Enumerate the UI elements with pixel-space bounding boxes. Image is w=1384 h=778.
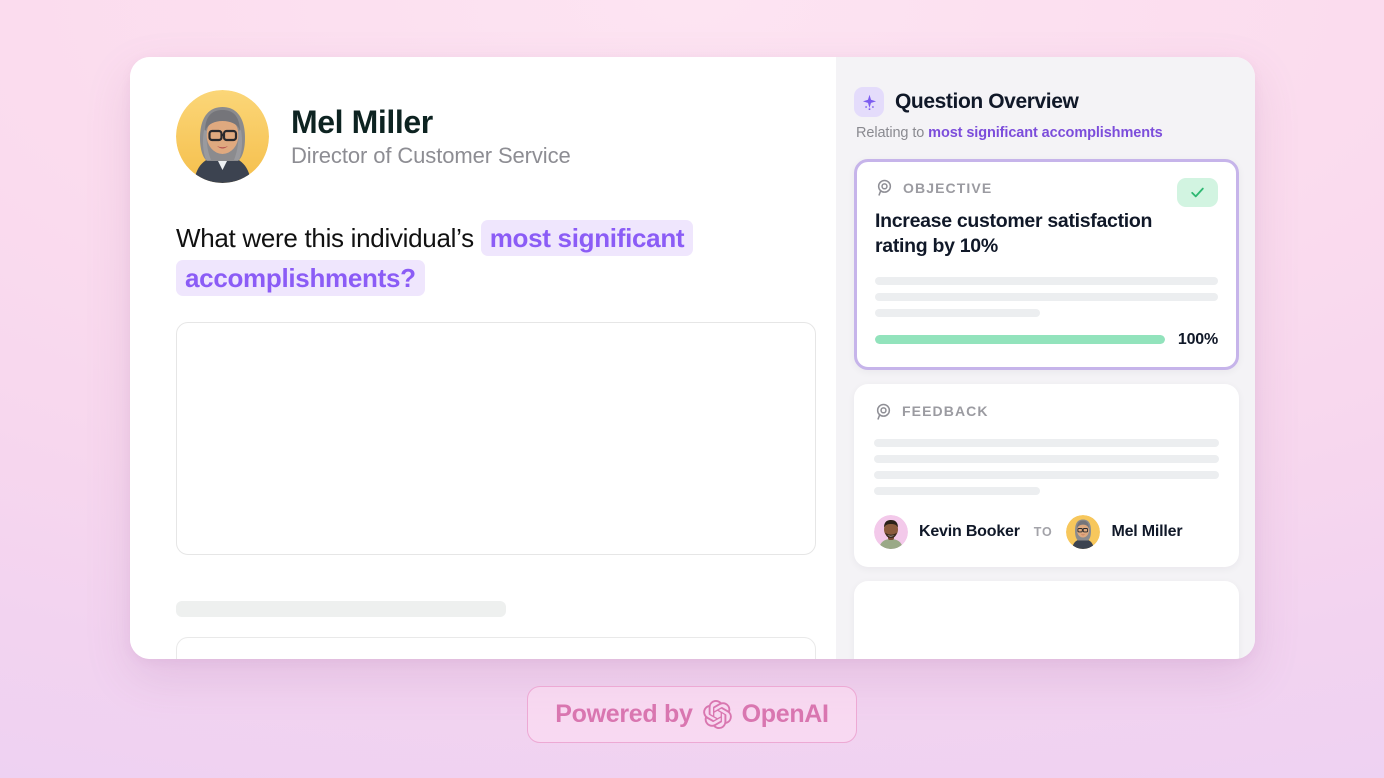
sparkle-icon	[854, 87, 884, 117]
objective-progress: 100%	[875, 331, 1218, 349]
feedback-card-head: FEEDBACK	[874, 402, 1219, 421]
person-name: Mel Miller	[291, 104, 571, 141]
secondary-answer-input[interactable]	[176, 637, 816, 659]
objective-title: Increase customer satisfaction rating by…	[875, 209, 1175, 259]
person-identity: Mel Miller Director of Customer Service	[291, 104, 571, 170]
powered-by-badge: Powered by OpenAI	[527, 686, 857, 743]
overview-panel: Question Overview Relating to most signi…	[836, 57, 1255, 659]
objective-skeleton	[875, 277, 1218, 317]
avatar-to	[1066, 515, 1100, 549]
feedback-skeleton	[874, 439, 1219, 495]
target-icon	[874, 402, 893, 421]
target-icon	[875, 178, 894, 197]
feedback-connector: TO	[1034, 525, 1053, 539]
skeleton-line	[875, 277, 1218, 285]
person-header: Mel Miller Director of Customer Service	[176, 90, 790, 183]
skeleton-line	[874, 487, 1040, 495]
openai-logo	[703, 700, 732, 729]
person-role: Director of Customer Service	[291, 143, 571, 169]
feedback-card[interactable]: FEEDBACK	[854, 384, 1239, 567]
overview-header: Question Overview	[854, 87, 1239, 117]
question-prefix: What were this individual’s	[176, 223, 481, 253]
objective-card[interactable]: OBJECTIVE Increase customer satisfaction…	[854, 159, 1239, 370]
avatar	[176, 90, 269, 183]
objective-card-head: OBJECTIVE	[875, 178, 1218, 197]
skeleton-line	[875, 293, 1218, 301]
check-icon	[1189, 184, 1206, 201]
feedback-to-name: Mel Miller	[1111, 523, 1182, 541]
powered-by-text: Powered by	[555, 700, 692, 729]
skeleton-line	[874, 455, 1219, 463]
avatar-image	[176, 90, 269, 183]
progress-fill	[875, 335, 1165, 344]
feedback-from-name: Kevin Booker	[919, 523, 1020, 541]
app-window: Mel Miller Director of Customer Service …	[130, 57, 1255, 659]
skeleton-label	[176, 601, 506, 617]
objective-label: OBJECTIVE	[903, 180, 992, 196]
overview-title: Question Overview	[895, 90, 1078, 114]
skeleton-line	[874, 439, 1219, 447]
overview-subtitle: Relating to most significant accomplishm…	[856, 125, 1239, 141]
question-text: What were this individual’s most signifi…	[176, 219, 776, 298]
progress-track	[875, 335, 1165, 344]
next-card-partial[interactable]	[854, 581, 1239, 659]
status-badge	[1177, 178, 1218, 207]
question-panel: Mel Miller Director of Customer Service …	[130, 57, 836, 659]
skeleton-line	[875, 309, 1040, 317]
feedback-participants: Kevin Booker TO	[874, 515, 1219, 549]
overview-subtitle-prefix: Relating to	[856, 125, 928, 141]
overview-subtitle-highlight: most significant accomplishments	[928, 125, 1163, 141]
skeleton-line	[874, 471, 1219, 479]
avatar-from	[874, 515, 908, 549]
openai-brand-text: OpenAI	[742, 700, 829, 729]
feedback-label: FEEDBACK	[902, 403, 989, 419]
progress-value: 100%	[1178, 331, 1218, 349]
answer-input[interactable]	[176, 322, 816, 555]
